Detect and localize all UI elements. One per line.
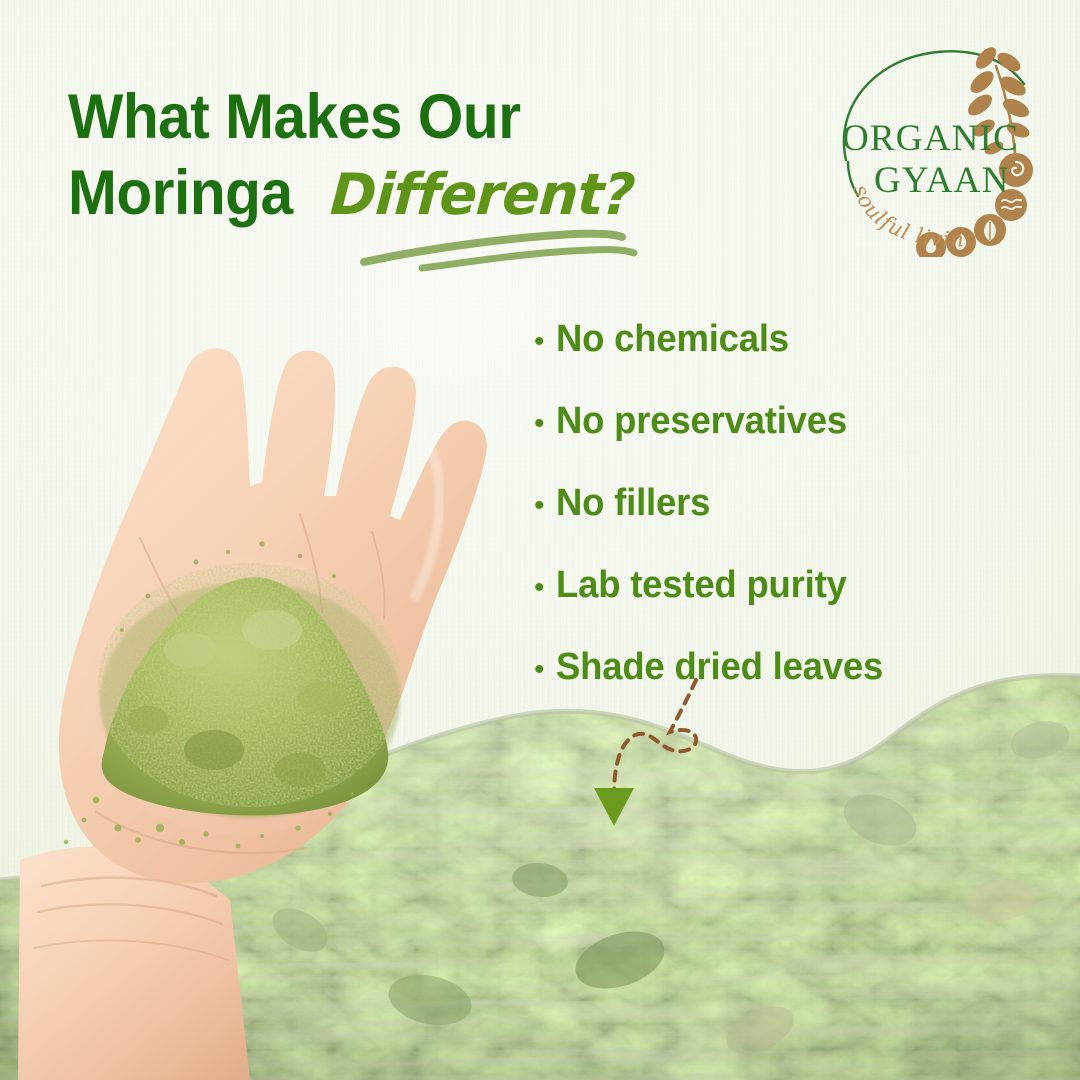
bullet-dot-icon: • — [534, 327, 556, 357]
list-item: • No fillers — [534, 482, 1004, 564]
list-item: • No chemicals — [534, 318, 1004, 400]
page-title: What Makes Our MoringaDifferent? — [68, 86, 768, 225]
brand-logo[interactable]: ORGANIC GYAAN soulful living — [828, 42, 1060, 257]
list-item: • Lab tested purity — [534, 564, 1004, 646]
headline-line-1: What Makes Our — [68, 86, 768, 149]
logo-name-line-2: GYAAN — [874, 160, 1010, 201]
list-item-label: Shade dried leaves — [556, 646, 883, 689]
headline-line-2: MoringaDifferent? — [68, 162, 768, 225]
bullet-dot-icon: • — [534, 409, 556, 439]
bullet-dot-icon: • — [534, 573, 556, 603]
hand-with-powder-photo — [0, 300, 520, 1080]
logo-name-line-1: ORGANIC — [842, 118, 1019, 159]
headline-text-secondary: Moringa — [68, 162, 293, 225]
list-item: • Shade dried leaves — [534, 646, 1004, 728]
list-item-label: Lab tested purity — [556, 564, 847, 607]
bullet-dot-icon: • — [534, 655, 556, 685]
poster-canvas: What Makes Our MoringaDifferent? — [0, 0, 1080, 1080]
leaf-badge-icon — [974, 214, 1006, 246]
list-item: • No preservatives — [534, 400, 1004, 482]
list-item-label: No fillers — [556, 482, 710, 525]
benefits-list: • No chemicals • No preservatives • No f… — [534, 318, 1004, 728]
bullet-dot-icon: • — [534, 491, 556, 521]
list-item-label: No chemicals — [556, 318, 789, 361]
headline-text-primary: What Makes Our — [68, 86, 521, 149]
headline-text-accent: Different? — [328, 167, 635, 224]
list-item-label: No preservatives — [556, 400, 847, 443]
